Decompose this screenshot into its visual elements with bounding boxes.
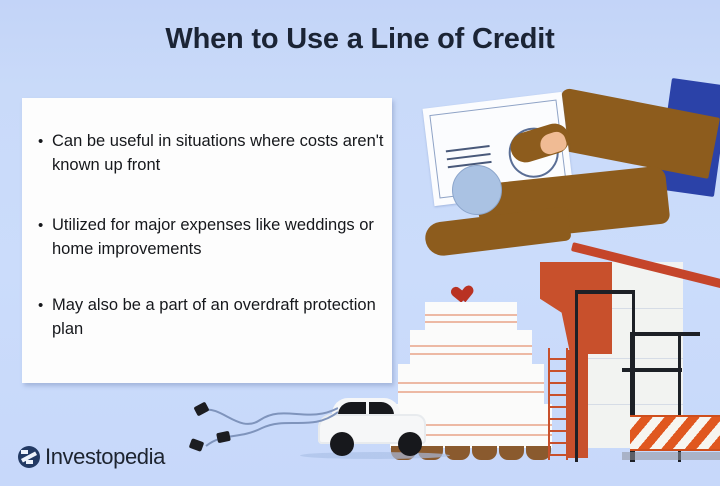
construction-barrier-icon (630, 415, 720, 451)
content-panel: Can be useful in situations where costs … (22, 98, 392, 383)
brand-name: Investopedia (45, 444, 165, 470)
scaffold-rail (575, 290, 635, 294)
fingers-shape (423, 206, 571, 257)
barrier-ground-shadow (622, 452, 720, 460)
bullet-item-2: Utilized for major expenses like wedding… (38, 214, 394, 260)
cake-tier (410, 330, 532, 364)
car-wheel (398, 432, 422, 456)
investopedia-logo[interactable]: Investopedia (18, 444, 165, 470)
ladder-icon (548, 348, 568, 460)
cake-tier (425, 302, 517, 330)
bullet-item-3: May also be a part of an overdraft prote… (38, 294, 394, 340)
page-title: When to Use a Line of Credit (0, 22, 720, 56)
investopedia-logo-icon (18, 446, 40, 468)
infographic-canvas: When to Use a Line of Credit Can be usef… (0, 0, 720, 486)
scaffold-post (575, 290, 578, 462)
chute-leg-shape (568, 350, 588, 458)
coin-icon (452, 165, 502, 215)
scaffold-rail (630, 332, 700, 336)
tin-can-strings (188, 398, 338, 458)
scaffold-rail (622, 368, 682, 372)
bullet-item-1: Can be useful in situations where costs … (38, 130, 394, 176)
cake-tier (398, 364, 544, 404)
heart-icon (446, 279, 468, 300)
